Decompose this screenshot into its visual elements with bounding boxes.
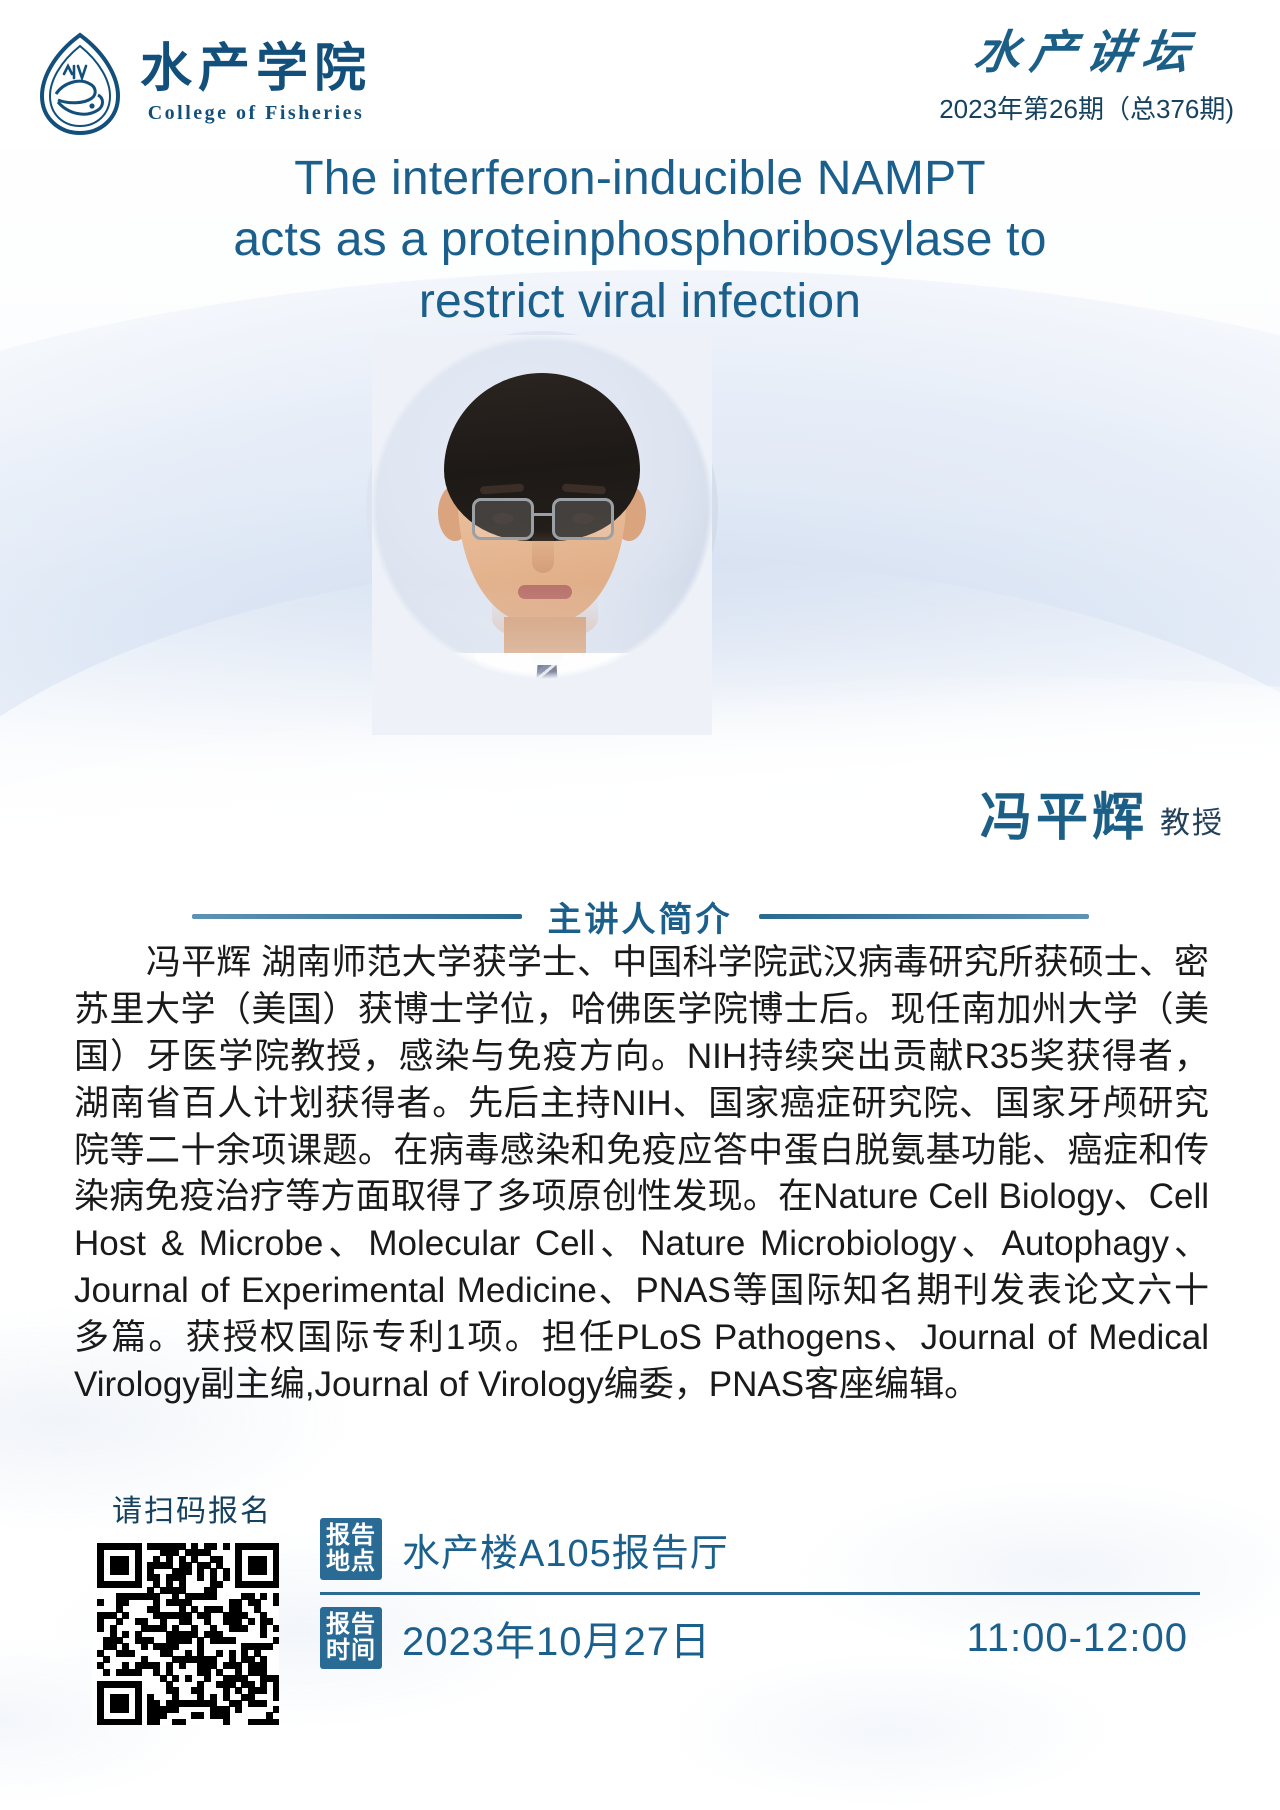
registration-qr-block[interactable]: 请扫码报名 — [92, 1486, 292, 1720]
talk-title-line-1: The interferon-inducible NAMPT — [90, 148, 1190, 209]
portrait-photo — [372, 335, 712, 735]
college-brand-text: 水产学院 College of Fisheries — [140, 43, 372, 125]
talk-title: The interferon-inducible NAMPT acts as a… — [90, 148, 1190, 332]
fish-shield-logo-icon — [34, 32, 126, 136]
time-badge: 报告 时间 — [320, 1607, 382, 1669]
poster-footer: 请扫码报名 报告 地点 水产楼A105报告厅 报告 时间 2023年10月27日… — [0, 1486, 1280, 1776]
speaker-name: 冯平辉 — [980, 792, 1148, 844]
speaker-identity: 冯平辉 教授 — [980, 792, 1224, 844]
venue-value: 水产楼A105报告厅 — [402, 1522, 729, 1577]
speaker-bio-text: 冯平辉 湖南师范大学获学士、中国科学院武汉病毒研究所获硕士、密苏里大学（美国）获… — [74, 940, 1209, 1409]
talk-title-line-3: restrict viral infection — [90, 271, 1190, 332]
time-row: 报告 时间 2023年10月27日 11:00-12:00 — [320, 1601, 1200, 1675]
time-badge-line-2: 时间 — [326, 1638, 376, 1664]
speaker-portrait — [372, 335, 712, 735]
section-label: 主讲人简介 — [548, 892, 733, 941]
scan-label: 请扫码报名 — [92, 1486, 292, 1530]
talk-title-line-2: acts as a proteinphosphoribosylase to — [90, 209, 1190, 270]
forum-identity: 水产讲坛 2023年第26期（总376期) — [939, 28, 1234, 126]
venue-badge-line-1: 报告 — [326, 1523, 376, 1549]
section-rule-right — [759, 914, 1089, 919]
details-divider — [320, 1592, 1200, 1595]
section-rule-left — [192, 914, 522, 919]
venue-row: 报告 地点 水产楼A105报告厅 — [320, 1512, 1200, 1586]
forum-issue-number: 2023年第26期（总376期) — [939, 89, 1234, 126]
event-details: 报告 地点 水产楼A105报告厅 报告 时间 2023年10月27日 11:00… — [320, 1512, 1200, 1675]
qr-code-registration[interactable] — [92, 1538, 274, 1720]
speaker-role: 教授 — [1160, 809, 1224, 844]
college-name-cn: 水产学院 — [140, 43, 372, 98]
event-date: 2023年10月27日 — [402, 1609, 711, 1667]
event-time-range: 11:00-12:00 — [966, 1616, 1200, 1661]
bio-section-heading: 主讲人简介 — [0, 892, 1280, 940]
forum-title: 水产讲坛 — [936, 28, 1238, 79]
college-name-en: College of Fisheries — [148, 102, 365, 125]
venue-badge: 报告 地点 — [320, 1518, 382, 1580]
venue-badge-line-2: 地点 — [326, 1549, 376, 1575]
college-brand: 水产学院 College of Fisheries — [34, 32, 372, 136]
poster-header: 水产学院 College of Fisheries 水产讲坛 2023年第26期… — [0, 24, 1280, 142]
time-badge-line-1: 报告 — [326, 1612, 376, 1638]
